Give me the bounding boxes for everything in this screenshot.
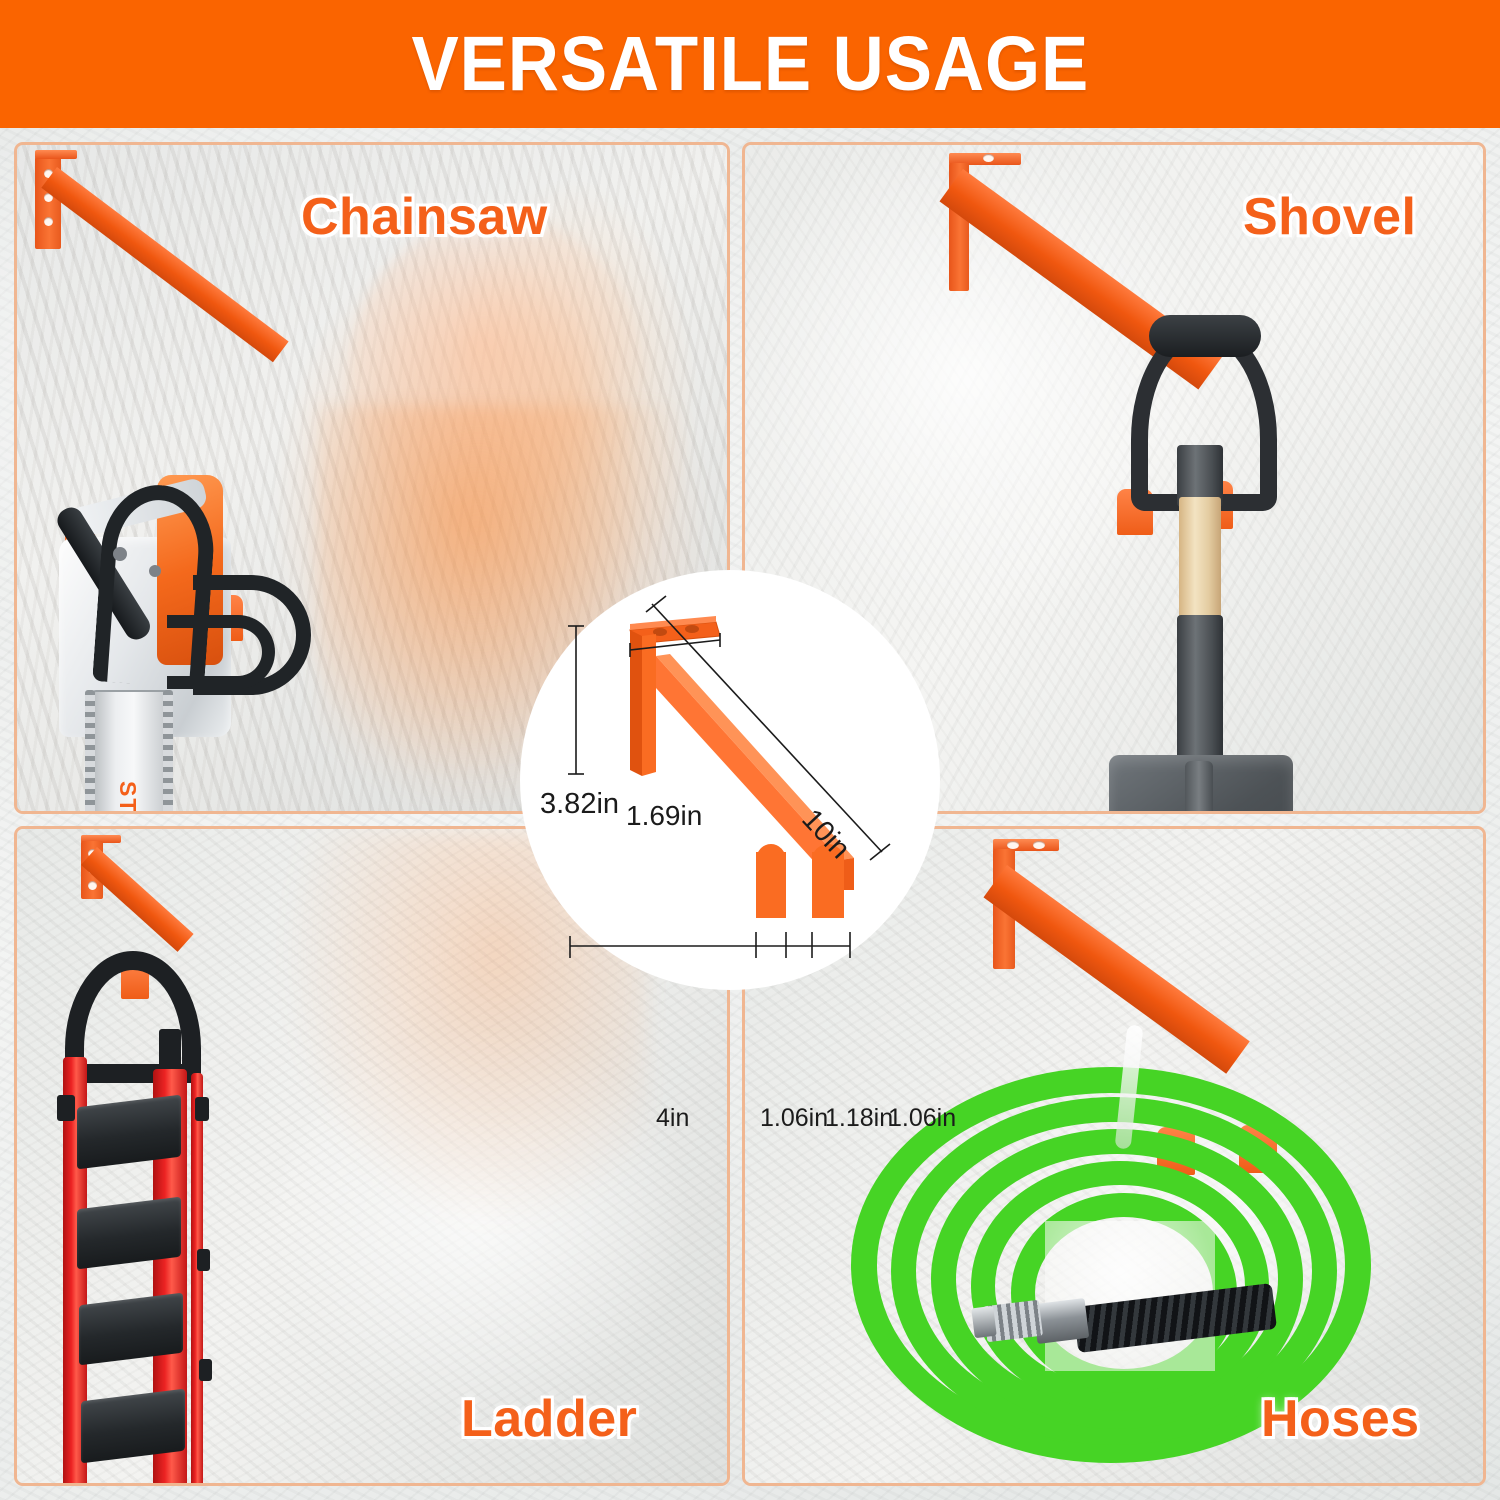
dim-hook2-label: 1.06in <box>888 1104 956 1133</box>
ladder-step-clip <box>57 1095 75 1121</box>
bracket-top-lip <box>35 150 77 159</box>
header-banner: VERSATILE USAGE <box>0 0 1500 128</box>
ladder-step <box>81 1389 185 1464</box>
dim-gap-label: 1.18in <box>825 1104 893 1133</box>
chainsaw-bolt <box>149 565 161 577</box>
ladder-rail-outer <box>191 1073 203 1486</box>
ladder-step-clip <box>199 1359 212 1381</box>
shovel-wood-shaft <box>1179 497 1221 627</box>
ladder-step <box>77 1197 181 1270</box>
dim-height-label: 3.82in <box>540 788 619 821</box>
ladder-step <box>79 1293 183 1366</box>
infographic-page: VERSATILE USAGE <box>0 0 1500 1500</box>
shovel-grip-top <box>1149 315 1261 357</box>
label-hoses: Hoses <box>1261 1389 1420 1449</box>
label-ladder: Ladder <box>461 1389 637 1449</box>
chainsaw-chain-right <box>163 690 173 814</box>
chainsaw-chain-left <box>85 690 95 814</box>
label-shovel: Shovel <box>1243 187 1417 247</box>
ladder-step <box>77 1095 181 1170</box>
dim-base-label: 4in <box>656 1104 689 1133</box>
quadrant-grid: STIHL Chainsaw <box>0 128 1500 1500</box>
bracket-screw-hole <box>983 154 994 162</box>
label-chainsaw: Chainsaw <box>301 187 548 247</box>
bracket-drawing <box>630 616 854 918</box>
hose-coupler-tip <box>971 1306 996 1338</box>
page-title: VERSATILE USAGE <box>411 20 1089 109</box>
chainsaw-bar-brand: STIHL <box>114 781 141 814</box>
bracket-screw-hole <box>44 217 53 226</box>
shovel-blade-rib <box>1185 761 1213 814</box>
dim-top-width-label: 1.69in <box>626 800 702 832</box>
chainsaw-bolt <box>113 547 127 561</box>
ladder-step-clip <box>197 1249 210 1271</box>
chainsaw-trigger-guard <box>167 615 275 689</box>
dim-hook1-label: 1.06in <box>760 1104 828 1133</box>
bracket-screw-hole <box>88 881 97 890</box>
ladder-step-clip <box>195 1097 209 1121</box>
